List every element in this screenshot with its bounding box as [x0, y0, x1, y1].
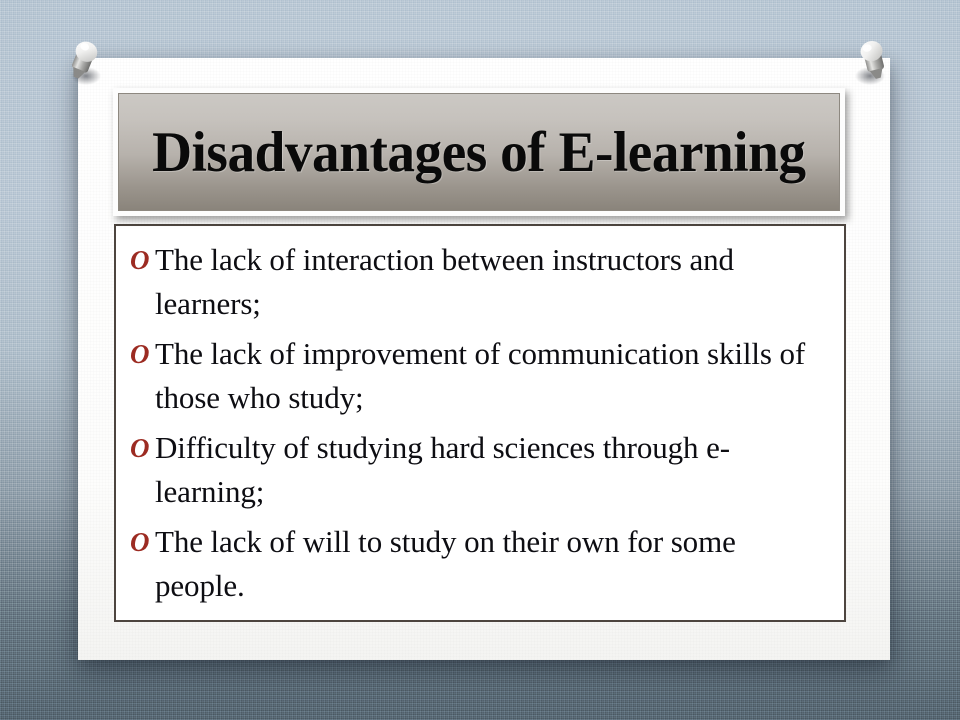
- content-box: O The lack of interaction between instru…: [114, 224, 846, 622]
- list-item: O The lack of interaction between instru…: [128, 238, 826, 326]
- bullet-circle-icon: O: [128, 238, 155, 282]
- bullet-list: O The lack of interaction between instru…: [116, 226, 844, 608]
- bullet-circle-icon: O: [128, 332, 155, 376]
- list-item-label: The lack of will to study on their own f…: [155, 520, 826, 608]
- slide-canvas: Disadvantages of E-learning O The lack o…: [0, 0, 960, 720]
- bullet-circle-icon: O: [128, 520, 155, 564]
- bullet-circle-icon: O: [128, 426, 155, 470]
- page-title: Disadvantages of E-learning: [152, 124, 805, 181]
- title-plaque-inner: Disadvantages of E-learning: [118, 93, 840, 211]
- list-item-label: The lack of improvement of communication…: [155, 332, 826, 420]
- slide-card: Disadvantages of E-learning O The lack o…: [78, 58, 890, 660]
- list-item-label: The lack of interaction between instruct…: [155, 238, 826, 326]
- list-item: O The lack of improvement of communicati…: [128, 332, 826, 420]
- title-plaque: Disadvantages of E-learning: [113, 88, 845, 216]
- list-item: O The lack of will to study on their own…: [128, 520, 826, 608]
- list-item-label: Difficulty of studying hard sciences thr…: [155, 426, 826, 514]
- list-item: O Difficulty of studying hard sciences t…: [128, 426, 826, 514]
